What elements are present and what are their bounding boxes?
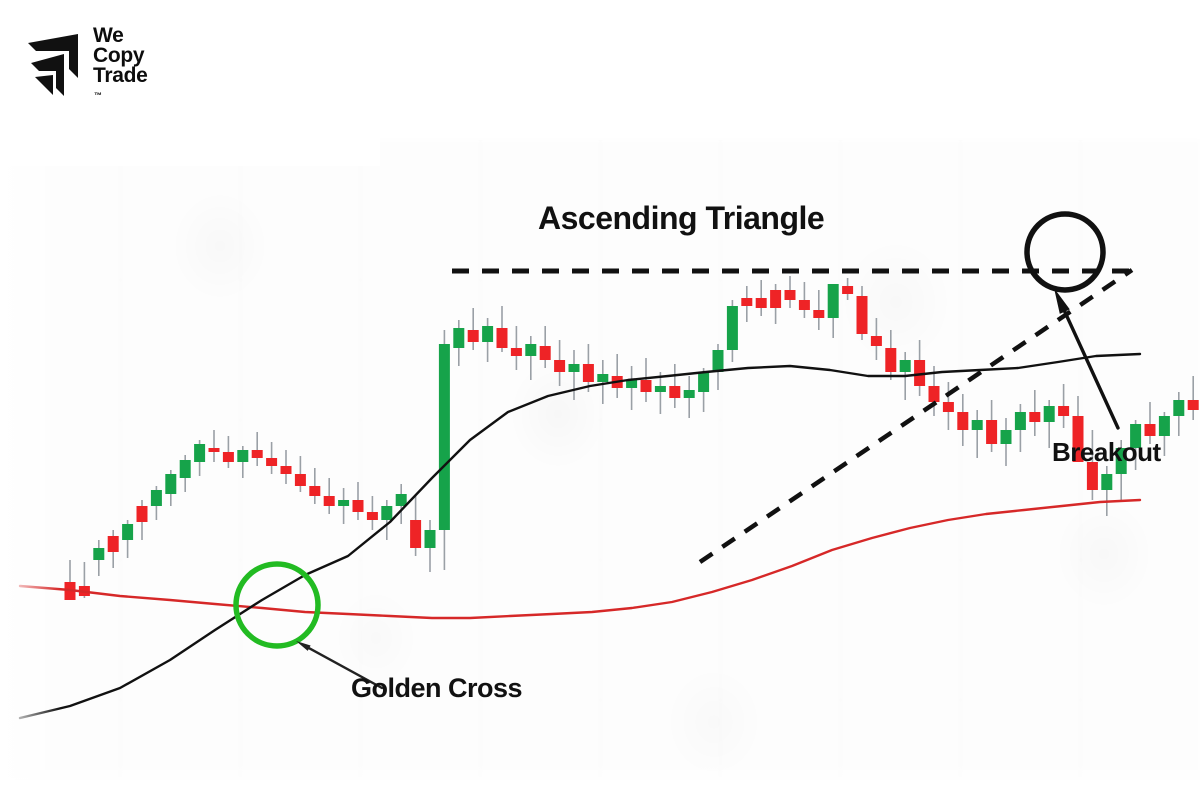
candle-body bbox=[813, 310, 824, 318]
candle-body bbox=[396, 494, 407, 506]
left-edge-fade bbox=[0, 140, 60, 800]
candle-body bbox=[281, 466, 292, 474]
candle-body bbox=[1001, 430, 1012, 444]
candle-body bbox=[410, 520, 421, 548]
candle-body bbox=[1145, 424, 1156, 436]
candle-body bbox=[194, 444, 205, 462]
candle-body bbox=[381, 506, 392, 520]
trademark-symbol: ™ bbox=[94, 86, 148, 106]
candle-body bbox=[641, 380, 652, 392]
golden-cross-circle-marker bbox=[236, 564, 318, 646]
candle-body bbox=[1015, 412, 1026, 430]
candle-body bbox=[453, 328, 464, 348]
golden-cross-label: Golden Cross bbox=[351, 673, 522, 704]
brand-line-1: We bbox=[93, 26, 148, 46]
chart-canvas: Ascending Triangle Breakout Golden Cross… bbox=[0, 0, 1200, 800]
candle-body bbox=[972, 420, 983, 430]
candle-body bbox=[986, 420, 997, 444]
candle-body bbox=[957, 412, 968, 430]
candle-body bbox=[237, 450, 248, 462]
candle-body bbox=[1029, 412, 1040, 422]
slow-moving-average-line bbox=[20, 500, 1140, 618]
candle-body bbox=[482, 326, 493, 342]
candle-body bbox=[468, 330, 479, 342]
candle-body bbox=[569, 364, 580, 372]
candle-body bbox=[828, 284, 839, 318]
candle-body bbox=[108, 536, 119, 552]
candle-body bbox=[885, 348, 896, 372]
candle-body bbox=[525, 344, 536, 356]
brand-line-2: Copy bbox=[93, 46, 148, 66]
candle-body bbox=[929, 386, 940, 402]
candle-body bbox=[943, 402, 954, 412]
candle-body bbox=[309, 486, 320, 496]
candle-body bbox=[1058, 406, 1069, 416]
candle-body bbox=[137, 506, 148, 522]
ascending-triangle-label: Ascending Triangle bbox=[538, 200, 824, 237]
candle-body bbox=[727, 306, 738, 350]
candle-body bbox=[1101, 474, 1112, 490]
candle-body bbox=[684, 390, 695, 398]
candle-body bbox=[165, 474, 176, 494]
candle-body bbox=[842, 286, 853, 294]
candle-body bbox=[497, 328, 508, 348]
candle-body bbox=[713, 350, 724, 372]
candle-body bbox=[698, 372, 709, 392]
candle-body bbox=[1173, 400, 1184, 416]
candle-body bbox=[223, 452, 234, 462]
candle-body bbox=[324, 496, 335, 506]
breakout-circle-marker bbox=[1027, 214, 1103, 290]
candle-body bbox=[266, 458, 277, 466]
candle-body bbox=[655, 386, 666, 392]
candle-body bbox=[93, 548, 104, 560]
brand-logo[interactable]: We Copy Trade™ bbox=[26, 26, 148, 106]
candle-body bbox=[439, 344, 450, 530]
candle-body bbox=[295, 474, 306, 486]
brand-line-3-wrap: Trade™ bbox=[93, 66, 148, 106]
candle-body bbox=[857, 296, 868, 334]
candle-body bbox=[770, 290, 781, 308]
candle-body bbox=[871, 336, 882, 346]
candle-body bbox=[799, 300, 810, 310]
candle-body bbox=[583, 364, 594, 382]
candle-body bbox=[756, 298, 767, 308]
candle-body bbox=[1159, 416, 1170, 436]
candle-body bbox=[353, 500, 364, 512]
brand-line-3: Trade bbox=[93, 66, 148, 86]
candle-body bbox=[209, 448, 220, 452]
candle-body bbox=[900, 360, 911, 372]
candle-body bbox=[511, 348, 522, 356]
candle-body bbox=[151, 490, 162, 506]
arrow-chevron-logo-icon bbox=[26, 32, 80, 100]
candle-body bbox=[252, 450, 263, 458]
candle-body bbox=[367, 512, 378, 520]
candle-body bbox=[1188, 400, 1199, 410]
brand-name: We Copy Trade™ bbox=[93, 26, 148, 106]
candle-body bbox=[540, 346, 551, 360]
fast-moving-average-line bbox=[20, 354, 1140, 718]
candle-body bbox=[554, 360, 565, 372]
breakout-label: Breakout bbox=[1052, 437, 1161, 468]
candle-body bbox=[1044, 406, 1055, 422]
candle-series bbox=[65, 228, 1200, 600]
candle-body bbox=[425, 530, 436, 548]
candle-body bbox=[597, 374, 608, 382]
bottom-edge-fade bbox=[0, 760, 1200, 800]
candle-body bbox=[741, 298, 752, 306]
candle-body bbox=[785, 290, 796, 300]
candle-body bbox=[180, 460, 191, 478]
candle-body bbox=[122, 524, 133, 540]
candle-body bbox=[338, 500, 349, 506]
candle-body bbox=[669, 386, 680, 398]
